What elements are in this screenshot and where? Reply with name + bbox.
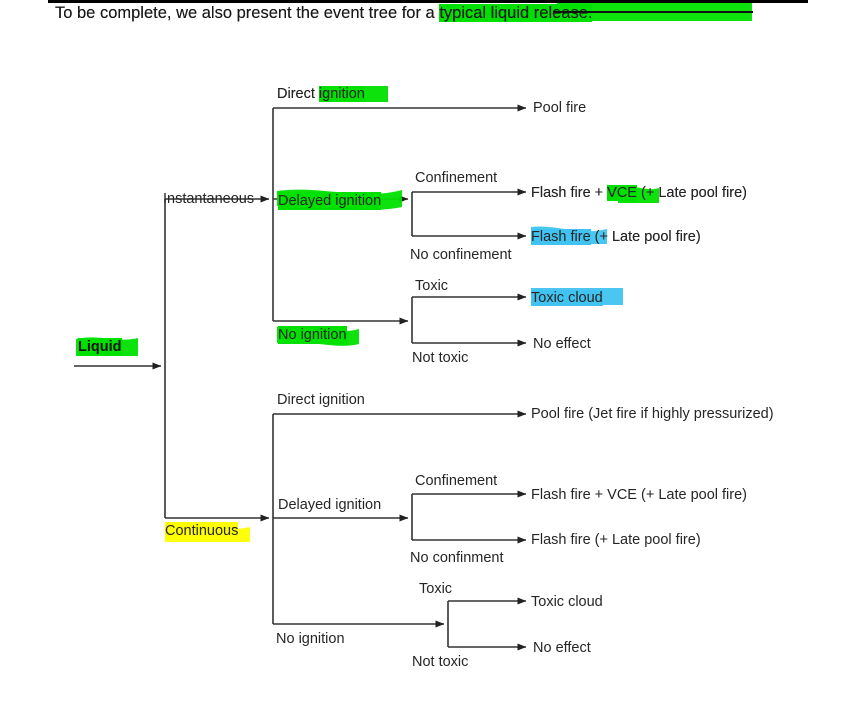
caption-strikethrough bbox=[553, 11, 753, 13]
node-label-delayed-ignition-text: Delayed ignition bbox=[278, 192, 381, 210]
node-label-confinement-top: Confinement bbox=[415, 169, 497, 187]
node-label-no-ignition-text: No ignition bbox=[278, 326, 347, 344]
off-hl: Flash fire bbox=[531, 229, 591, 245]
node-label-direct-ignition-bottom: Direct ignition bbox=[277, 391, 365, 409]
node-label-toxic-bottom: Toxic bbox=[419, 580, 452, 598]
caption-hl-overlay: typical liquid release. bbox=[439, 4, 592, 22]
ofv-b: (+ Late pool fire) bbox=[637, 185, 747, 201]
node-label-continuous-text: Continuous bbox=[165, 522, 238, 540]
outcome-pool-fire-top: Pool fire bbox=[533, 99, 586, 117]
node-label-no-confinement-bottom: No confinment bbox=[410, 549, 504, 567]
node-label-instantaneous: Instantaneous bbox=[163, 190, 254, 208]
outcome-no-effect-top: No effect bbox=[533, 335, 591, 353]
ofv-hl: VCE bbox=[607, 185, 637, 201]
outcome-flash-fire-bottom: Flash fire (+ Late pool fire) bbox=[531, 531, 701, 549]
off-b: (+ Late pool fire) bbox=[591, 229, 701, 245]
direct-ignition-hl-text: ignition bbox=[319, 86, 365, 102]
outcome-toxic-cloud-text: Toxic cloud bbox=[531, 289, 603, 307]
outcome-flash-vce-bottom: Flash fire + VCE (+ Late pool fire) bbox=[531, 486, 747, 504]
outcome-flash-vce-text: Flash fire + VCE (+ Late pool fire) bbox=[531, 184, 747, 202]
node-label-not-toxic-bottom: Not toxic bbox=[412, 653, 468, 671]
node-label-not-toxic-top: Not toxic bbox=[412, 349, 468, 367]
event-tree-page: To be complete, we also present the even… bbox=[0, 0, 853, 706]
node-label-confinement-bottom: Confinement bbox=[415, 472, 497, 490]
node-label-delayed-ignition-bottom: Delayed ignition bbox=[278, 496, 381, 514]
outcome-flash-fire-text: Flash fire (+ Late pool fire) bbox=[531, 228, 701, 246]
node-label-direct-ignition-text: Direct ignition bbox=[277, 85, 365, 103]
ofv-a: Flash fire + bbox=[531, 185, 607, 201]
node-label-toxic-top: Toxic bbox=[415, 277, 448, 295]
node-label-no-ignition-bottom: No ignition bbox=[276, 630, 345, 648]
direct-ignition-prefix-text: Direct bbox=[277, 86, 319, 102]
outcome-toxic-cloud-bottom: Toxic cloud bbox=[531, 593, 603, 611]
caption-text-overlay: To be complete, we also present the even… bbox=[55, 2, 592, 24]
outcome-pool-fire-bottom: Pool fire (Jet fire if highly pressurize… bbox=[531, 405, 774, 423]
node-label-liquid-text: Liquid bbox=[78, 338, 122, 356]
node-label-no-confinement-top: No confinement bbox=[410, 246, 512, 264]
caption-prefix-overlay: To be complete, we also present the even… bbox=[55, 4, 439, 22]
outcome-no-effect-bottom: No effect bbox=[533, 639, 591, 657]
